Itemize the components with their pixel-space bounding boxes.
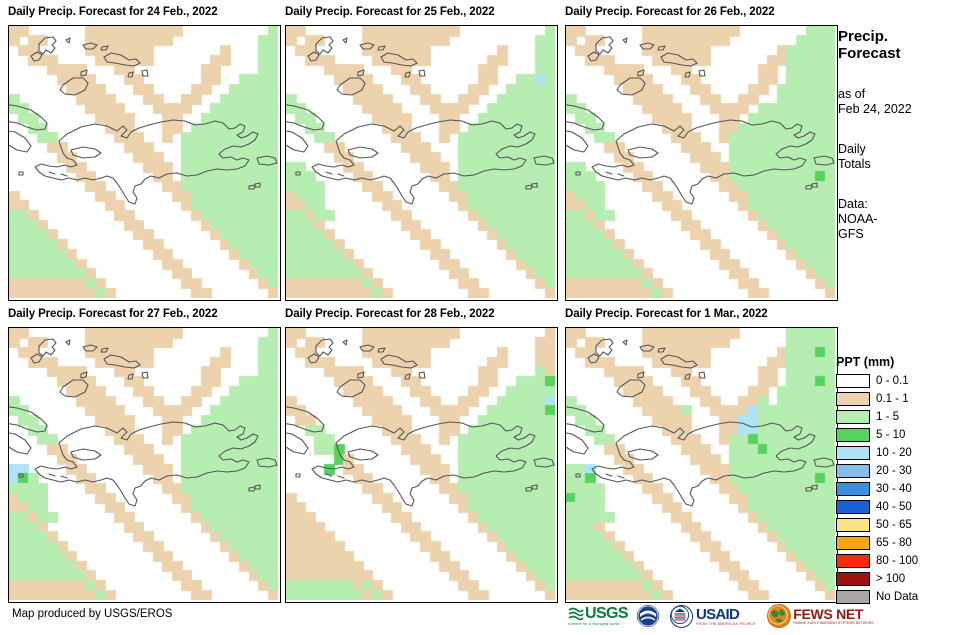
forecast-panel-mar01: Daily Precip. Forecast for 1 Mar., 2022 (565, 308, 837, 602)
legend-row: 80 - 100 (836, 552, 970, 570)
legend-label: No Data (876, 590, 918, 604)
legend-label: 40 - 50 (876, 500, 912, 514)
usaid-wordmark: USAID (696, 607, 755, 622)
coastline-overlay (286, 26, 555, 298)
as-of-line1: as of (838, 87, 970, 102)
panel-title: Daily Precip. Forecast for 24 Feb., 2022 (8, 6, 218, 18)
map-feb24[interactable] (8, 25, 281, 301)
forecast-panel-feb26: Daily Precip. Forecast for 26 Feb., 2022 (565, 6, 837, 300)
legend-swatch (836, 536, 870, 550)
legend-label: 20 - 30 (876, 464, 912, 478)
data-line2: NOAA- (838, 212, 970, 227)
map-credit: Map produced by USGS/EROS (12, 608, 172, 620)
legend-row: 30 - 40 (836, 480, 970, 498)
legend-row: > 100 (836, 570, 970, 588)
legend-label: 5 - 10 (876, 428, 905, 442)
legend-swatch (836, 554, 870, 568)
panel-title: Daily Precip. Forecast for 1 Mar., 2022 (565, 308, 768, 320)
legend-label: 80 - 100 (876, 554, 918, 568)
totals-line2: Totals (838, 157, 970, 172)
panel-title: Daily Precip. Forecast for 27 Feb., 2022 (8, 308, 218, 320)
legend-row: 50 - 65 (836, 516, 970, 534)
legend-swatch (836, 572, 870, 586)
usgs-wordmark: USGS (585, 606, 628, 622)
totals-line1: Daily (838, 142, 970, 157)
as-of-line2: Feb 24, 2022 (838, 102, 970, 117)
data-line3: GFS (838, 227, 970, 242)
as-of-block: as of Feb 24, 2022 (838, 87, 970, 117)
legend-row: 40 - 50 (836, 498, 970, 516)
legend-label: 0.1 - 1 (876, 392, 909, 406)
forecast-panel-feb27: Daily Precip. Forecast for 27 Feb., 2022 (8, 308, 280, 602)
info-column: Precip. Forecast as of Feb 24, 2022 Dail… (838, 28, 970, 242)
usgs-tagline: science for a changing world (568, 622, 619, 626)
legend-swatch (836, 464, 870, 478)
legend-row: 5 - 10 (836, 426, 970, 444)
usaid-tagline: FROM THE AMERICAN PEOPLE (696, 622, 755, 626)
legend-swatch (836, 446, 870, 460)
legend-label: 1 - 5 (876, 410, 899, 424)
legend: PPT (mm) 0 - 0.10.1 - 11 - 55 - 1010 - 2… (836, 355, 970, 606)
panel-title: Daily Precip. Forecast for 25 Feb., 2022 (285, 6, 495, 18)
legend-row: 10 - 20 (836, 444, 970, 462)
coastline-overlay (566, 26, 835, 298)
forecast-panel-feb24: Daily Precip. Forecast for 24 Feb., 2022 (8, 6, 280, 300)
map-mar01[interactable] (565, 327, 838, 603)
legend-swatch (836, 374, 870, 388)
usgs-wave-icon (568, 606, 584, 622)
legend-row: 65 - 80 (836, 534, 970, 552)
map-feb25[interactable] (285, 25, 558, 301)
legend-swatch (836, 482, 870, 496)
panel-title: Daily Precip. Forecast for 26 Feb., 2022 (565, 6, 775, 18)
fews-tagline: FAMINE EARLY WARNING SYSTEMS NETWORK (793, 621, 874, 625)
forecast-panel-feb25: Daily Precip. Forecast for 25 Feb., 2022 (285, 6, 557, 300)
fews-globe-icon (767, 604, 791, 628)
legend-label: 50 - 65 (876, 518, 912, 532)
legend-label: 0 - 0.1 (876, 374, 909, 388)
coastline-overlay (286, 328, 555, 600)
legend-swatch (836, 428, 870, 442)
map-feb26[interactable] (565, 25, 838, 301)
legend-label: 65 - 80 (876, 536, 912, 550)
info-title: Precip. Forecast (838, 28, 970, 62)
coastline-overlay (566, 328, 835, 600)
data-line1: Data: (838, 197, 970, 212)
legend-swatch (836, 500, 870, 514)
noaa-seal-icon (637, 605, 659, 627)
noaa-logo[interactable] (634, 605, 664, 627)
legend-swatch (836, 518, 870, 532)
legend-title: PPT (mm) (836, 355, 970, 369)
map-feb28[interactable] (285, 327, 558, 603)
info-title-line2: Forecast (838, 45, 970, 62)
logo-strip: USGS science for a changing world (568, 600, 880, 632)
legend-row: 0 - 0.1 (836, 372, 970, 390)
legend-rows: 0 - 0.10.1 - 11 - 55 - 1010 - 2020 - 303… (836, 372, 970, 606)
usgs-logo[interactable]: USGS science for a changing world (568, 606, 628, 626)
legend-row: 1 - 5 (836, 408, 970, 426)
coastline-overlay (9, 328, 278, 600)
legend-label: 10 - 20 (876, 446, 912, 460)
usaid-logo[interactable]: USAID FROM THE AMERICAN PEOPLE (670, 605, 755, 628)
info-title-line1: Precip. (838, 28, 970, 45)
usaid-seal-icon (670, 605, 693, 628)
legend-row: 0.1 - 1 (836, 390, 970, 408)
forecast-panel-feb28: Daily Precip. Forecast for 28 Feb., 2022 (285, 308, 557, 602)
data-source-block: Data: NOAA- GFS (838, 197, 970, 242)
legend-label: 30 - 40 (876, 482, 912, 496)
fews-wordmark: FEWS NET (793, 607, 874, 621)
legend-swatch (836, 392, 870, 406)
legend-swatch (836, 410, 870, 424)
legend-label: > 100 (876, 572, 905, 586)
map-feb27[interactable] (8, 327, 281, 603)
coastline-overlay (9, 26, 278, 298)
fews-net-logo[interactable]: FEWS NET FAMINE EARLY WARNING SYSTEMS NE… (767, 604, 874, 628)
panel-title: Daily Precip. Forecast for 28 Feb., 2022 (285, 308, 495, 320)
totals-block: Daily Totals (838, 142, 970, 172)
legend-row: 20 - 30 (836, 462, 970, 480)
